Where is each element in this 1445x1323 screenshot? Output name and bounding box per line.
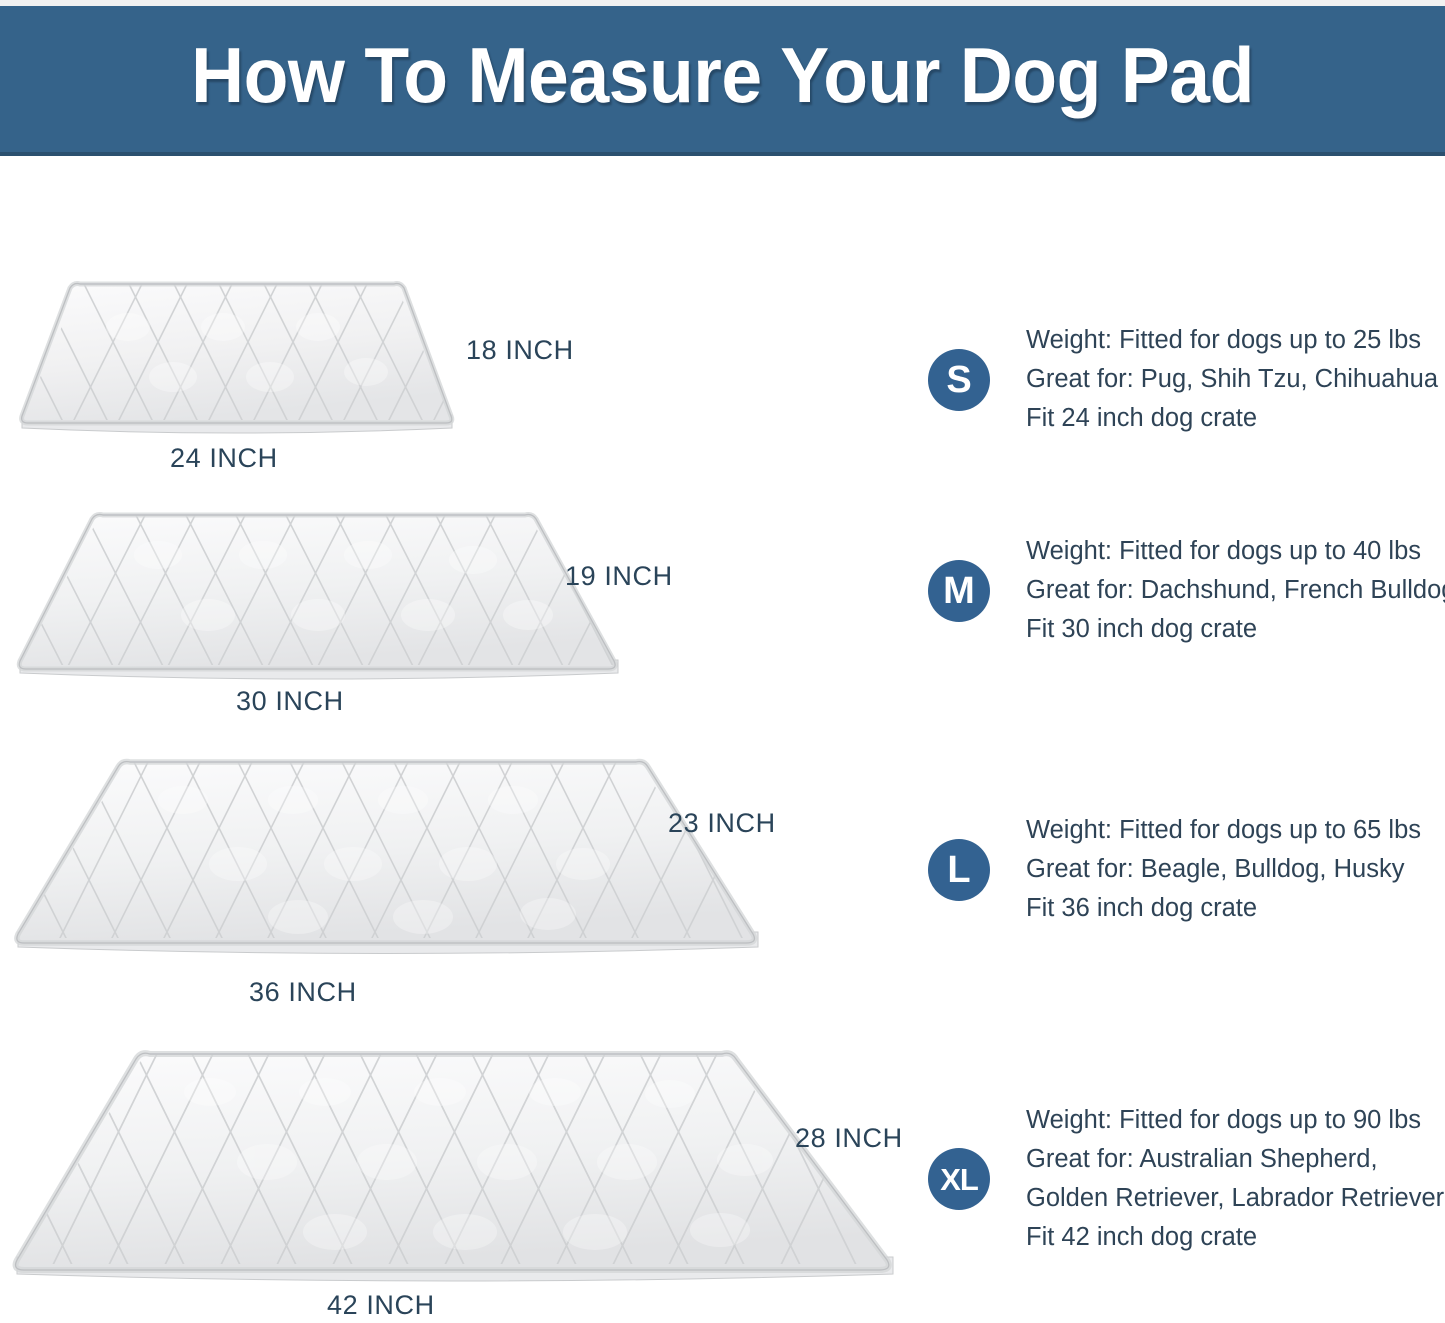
size-weight-m: Weight: Fitted for dogs up to 40 lbs xyxy=(1026,532,1445,571)
size-badge-m: M xyxy=(928,560,990,622)
dim-label-small-width: 24 INCH xyxy=(170,443,278,474)
dog-pad-large xyxy=(8,752,768,967)
pad-illustration-small xyxy=(8,272,458,440)
dim-label-small-depth: 18 INCH xyxy=(466,335,574,366)
size-crate-xl: Fit 42 inch dog crate xyxy=(1026,1218,1444,1257)
dim-label-large-width: 36 INCH xyxy=(249,977,357,1008)
size-greatfor-m: Great for: Dachshund, French Bulldog xyxy=(1026,571,1445,610)
dog-pad-medium xyxy=(8,505,628,690)
size-greatfor-s: Great for: Pug, Shih Tzu, Chihuahua xyxy=(1026,360,1438,399)
dim-label-xlarge-width: 42 INCH xyxy=(327,1290,435,1321)
size-row-xl: XL Weight: Fitted for dogs up to 90 lbs … xyxy=(928,1101,1444,1257)
size-row-s: S Weight: Fitted for dogs up to 25 lbs G… xyxy=(928,321,1438,438)
dim-label-medium-depth: 19 INCH xyxy=(565,561,673,592)
size-greatfor-xl: Great for: Australian Shepherd, xyxy=(1026,1140,1444,1179)
dim-label-large-depth: 23 INCH xyxy=(668,808,776,839)
size-description-xl: Weight: Fitted for dogs up to 90 lbs Gre… xyxy=(1026,1101,1444,1257)
size-row-m: M Weight: Fitted for dogs up to 40 lbs G… xyxy=(928,532,1445,649)
dim-label-xlarge-depth: 28 INCH xyxy=(795,1123,903,1154)
size-weight-s: Weight: Fitted for dogs up to 25 lbs xyxy=(1026,321,1438,360)
pad-illustration-large xyxy=(8,752,768,967)
size-weight-l: Weight: Fitted for dogs up to 65 lbs xyxy=(1026,811,1421,850)
size-greatfor-l: Great for: Beagle, Bulldog, Husky xyxy=(1026,850,1421,889)
size-row-l: L Weight: Fitted for dogs up to 65 lbs G… xyxy=(928,811,1421,928)
size-badge-s: S xyxy=(928,349,990,411)
size-badge-xl: XL xyxy=(928,1148,990,1210)
size-description-l: Weight: Fitted for dogs up to 65 lbs Gre… xyxy=(1026,811,1421,928)
size-crate-s: Fit 24 inch dog crate xyxy=(1026,399,1438,438)
size-greatfor2-xl: Golden Retriever, Labrador Retriever xyxy=(1026,1179,1444,1218)
dog-pad-xlarge xyxy=(5,1042,905,1297)
size-crate-m: Fit 30 inch dog crate xyxy=(1026,610,1445,649)
size-description-s: Weight: Fitted for dogs up to 25 lbs Gre… xyxy=(1026,321,1438,438)
size-badge-l: L xyxy=(928,839,990,901)
pad-illustration-xlarge xyxy=(5,1042,905,1297)
size-weight-xl: Weight: Fitted for dogs up to 90 lbs xyxy=(1026,1101,1444,1140)
size-description-m: Weight: Fitted for dogs up to 40 lbs Gre… xyxy=(1026,532,1445,649)
page-title: How To Measure Your Dog Pad xyxy=(43,30,1401,121)
dog-pad-small xyxy=(8,272,458,440)
dim-label-medium-width: 30 INCH xyxy=(236,686,344,717)
size-crate-l: Fit 36 inch dog crate xyxy=(1026,889,1421,928)
pad-illustration-medium xyxy=(8,505,628,690)
infographic-page: How To Measure Your Dog Pad xyxy=(0,0,1445,1323)
header-bar: How To Measure Your Dog Pad xyxy=(0,6,1445,156)
